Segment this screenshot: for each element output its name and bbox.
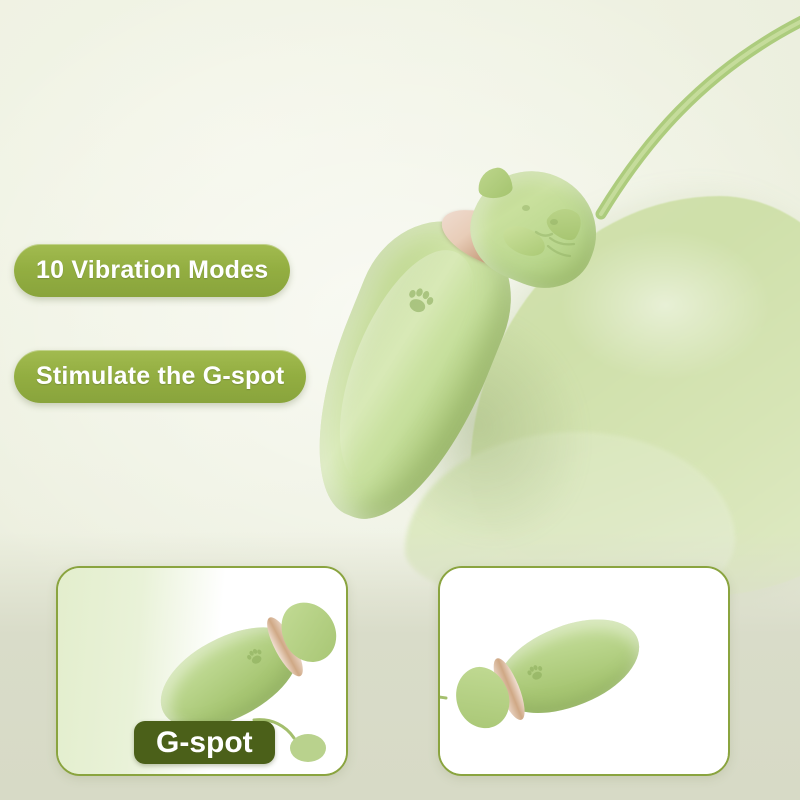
breast-cord-outline (440, 568, 728, 774)
product-feature-banner: 10 Vibration Modes Stimulate the G-spot (0, 0, 800, 800)
usage-card-breast[interactable]: Breast (438, 566, 730, 776)
feature-pill-label: 10 Vibration Modes (36, 256, 268, 285)
hero-product-image (352, 168, 642, 548)
feature-pill-g-spot: Stimulate the G-spot (14, 350, 306, 403)
cat-face-icon (492, 182, 602, 274)
usage-card-g-spot[interactable]: G-spot (56, 566, 348, 776)
feature-pill-label: Stimulate the G-spot (36, 362, 284, 391)
usage-card-artwork (440, 568, 728, 774)
feature-pill-vibration-modes: 10 Vibration Modes (14, 244, 290, 297)
usage-card-badge-label: G-spot (156, 726, 253, 760)
usage-card-badge-g-spot: G-spot (134, 721, 275, 764)
